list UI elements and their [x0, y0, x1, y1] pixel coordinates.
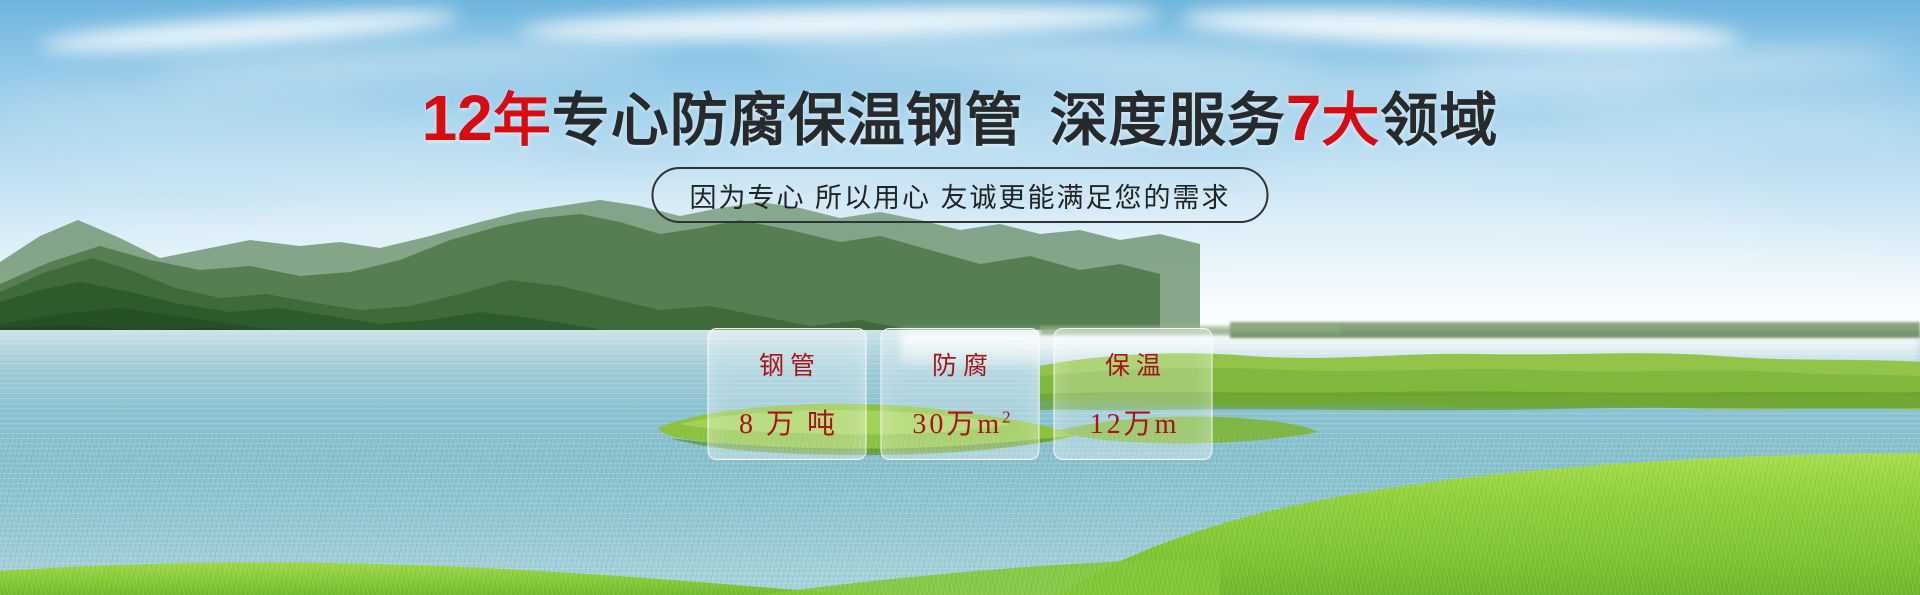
headline-service-text: 深度服务	[1050, 88, 1286, 153]
stat-value-main: 8 万 吨	[739, 409, 838, 440]
stat-value: 8 万 吨	[736, 402, 838, 442]
headline-fields-text: 领域	[1380, 88, 1498, 153]
headline-years-unit: 年	[493, 88, 552, 153]
stat-label: 钢管	[753, 346, 821, 382]
headline-years-number: 12	[422, 82, 493, 154]
stat-value: 30万m2	[909, 402, 1010, 442]
stat-value-main: 12万m	[1090, 409, 1180, 440]
stat-value-superscript: 2	[1002, 408, 1011, 427]
stat-label: 保温	[1099, 346, 1167, 382]
stat-value: 12万m	[1087, 402, 1180, 442]
headline-main-text: 专心防腐保温钢管	[552, 88, 1024, 153]
subtitle-text: 因为专心 所以用心 友诚更能满足您的需求	[689, 176, 1230, 215]
headline-fields-number: 7	[1286, 82, 1322, 154]
subtitle-pill: 因为专心 所以用心 友诚更能满足您的需求	[651, 167, 1268, 223]
stat-card-steel-pipe[interactable]: 钢管 8 万 吨	[708, 328, 867, 460]
hero-banner: 12年专心防腐保温钢管深度服务7大领域 因为专心 所以用心 友诚更能满足您的需求…	[0, 0, 1920, 595]
stat-value-main: 30万m	[912, 409, 1002, 440]
stat-card-anticorrosion[interactable]: 防腐 30万m2	[881, 328, 1040, 460]
headline-fields-unit: 大	[1321, 88, 1380, 153]
stat-card-group: 钢管 8 万 吨 防腐 30万m2 保温 12万m	[708, 328, 1213, 460]
stat-label: 防腐	[926, 346, 994, 382]
headline: 12年专心防腐保温钢管深度服务7大领域	[0, 86, 1920, 153]
stat-card-insulation[interactable]: 保温 12万m	[1054, 328, 1213, 460]
